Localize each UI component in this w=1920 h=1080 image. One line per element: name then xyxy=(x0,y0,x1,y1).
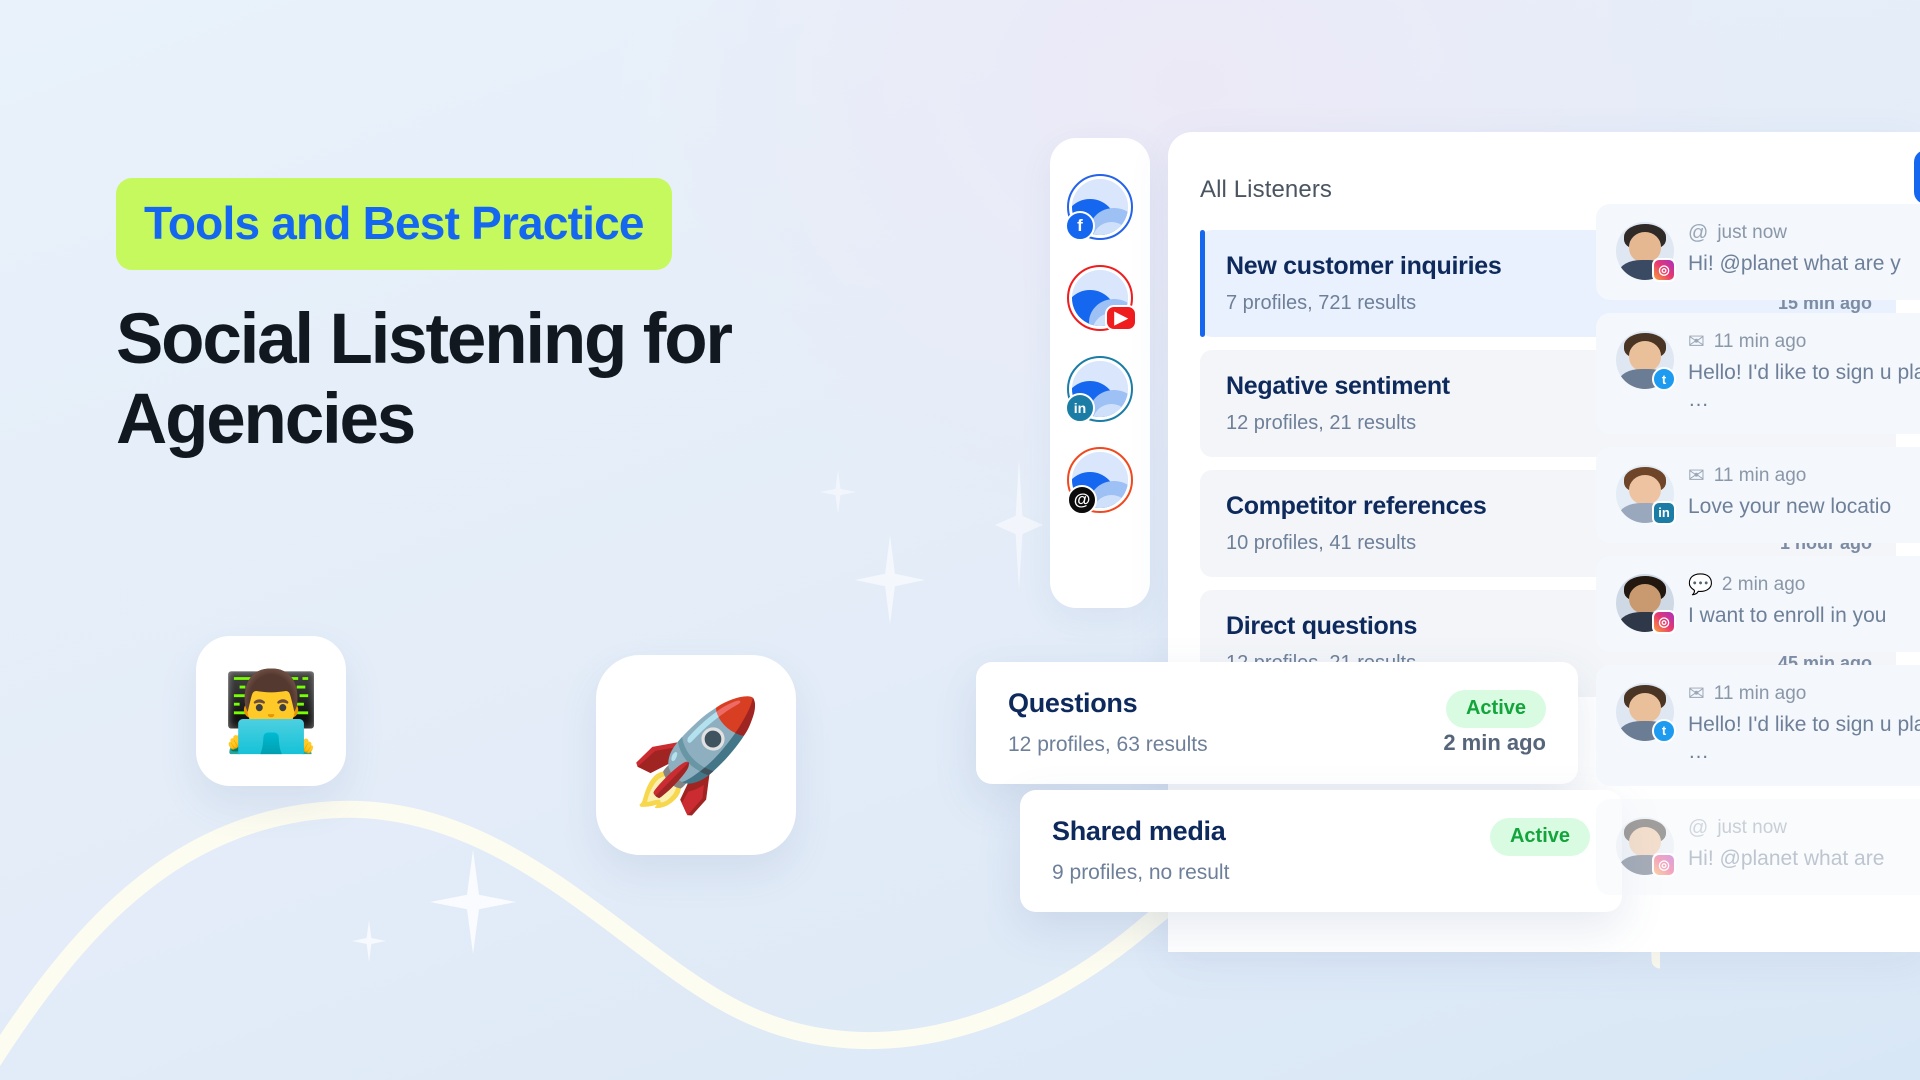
mention-timestamp: 2 min ago xyxy=(1722,574,1805,596)
mention-card[interactable]: t ✉ 11 min ago Hello! I'd like to sign u… xyxy=(1596,313,1920,434)
profile-avatar-threads[interactable]: @ xyxy=(1067,447,1133,513)
emoji-tile-rocket: 🚀 xyxy=(596,655,796,855)
mention-text: Hello! I'd like to sign u plan … xyxy=(1688,360,1920,414)
sparkle-icon xyxy=(855,535,925,625)
mention-text: Love your new locatio xyxy=(1688,494,1920,521)
comment-icon: 💬 xyxy=(1688,575,1713,595)
floating-card-shared-media[interactable]: Shared media 9 profiles, no result Activ… xyxy=(1020,790,1622,912)
mention-card[interactable]: ◎ @ just now Hi! @planet what are xyxy=(1596,799,1920,895)
mention-text: I want to enroll in you xyxy=(1688,603,1920,630)
mention-timestamp: 11 min ago xyxy=(1714,465,1807,487)
instagram-icon: ◎ xyxy=(1652,853,1676,877)
status-badge: Active xyxy=(1446,690,1546,728)
twitter-icon: t xyxy=(1652,367,1676,391)
rocket-emoji: 🚀 xyxy=(629,701,763,809)
twitter-icon: t xyxy=(1652,719,1676,743)
mention-card[interactable]: t ✉ 11 min ago Hello! I'd like to sign u… xyxy=(1596,665,1920,786)
avatar: ◎ xyxy=(1616,222,1674,280)
mention-card[interactable]: ◎ 💬 2 min ago I want to enroll in you xyxy=(1596,556,1920,652)
avatar: ◎ xyxy=(1616,574,1674,632)
facebook-icon: f xyxy=(1065,211,1095,241)
mention-timestamp: just now xyxy=(1717,817,1787,839)
emoji-tile-person-on-laptop: 👨‍💻 xyxy=(196,636,346,786)
profiles-rail: f ▶ in @ xyxy=(1050,138,1150,608)
page-title: Social Listening for Agencies xyxy=(116,300,876,459)
listener-meta: 9 profiles, no result xyxy=(1052,861,1590,885)
instagram-icon: ◎ xyxy=(1652,610,1676,634)
status-badge: Active xyxy=(1490,818,1590,856)
mention-text: Hi! @planet what are xyxy=(1688,846,1920,873)
at-icon: @ xyxy=(1688,818,1708,838)
profile-avatar-facebook[interactable]: f xyxy=(1067,174,1133,240)
person-on-laptop-emoji: 👨‍💻 xyxy=(222,672,319,750)
mention-text: Hello! I'd like to sign u plan … xyxy=(1688,712,1920,766)
avatar: ◎ xyxy=(1616,817,1674,875)
avatar: in xyxy=(1616,465,1674,523)
mention-card[interactable]: in ✉ 11 min ago Love your new locatio xyxy=(1596,447,1920,543)
mention-text: Hi! @planet what are y xyxy=(1688,251,1920,278)
avatar: t xyxy=(1616,331,1674,389)
linkedin-icon: in xyxy=(1652,501,1676,525)
linkedin-icon: in xyxy=(1065,393,1095,423)
mentions-feed: ◎ @ just now Hi! @planet what are y t ✉ xyxy=(1596,132,1920,952)
eyebrow-badge: Tools and Best Practice xyxy=(116,178,672,270)
mention-timestamp: 11 min ago xyxy=(1714,683,1807,705)
feed-header xyxy=(1596,132,1920,204)
mention-timestamp: just now xyxy=(1717,222,1787,244)
sparkle-icon xyxy=(352,920,386,962)
instagram-icon: ◎ xyxy=(1652,258,1676,282)
at-icon: @ xyxy=(1688,223,1708,243)
sparkle-icon xyxy=(820,470,856,514)
sparkle-icon xyxy=(995,460,1043,590)
envelope-icon: ✉ xyxy=(1688,332,1705,352)
floating-card-questions[interactable]: Questions 12 profiles, 63 results Active… xyxy=(976,662,1578,784)
envelope-icon: ✉ xyxy=(1688,466,1705,486)
listener-timestamp: 2 min ago xyxy=(1443,730,1546,756)
threads-icon: @ xyxy=(1067,485,1097,515)
mention-card[interactable]: ◎ @ just now Hi! @planet what are y xyxy=(1596,204,1920,300)
avatar: t xyxy=(1616,683,1674,741)
mention-timestamp: 11 min ago xyxy=(1714,331,1807,353)
profile-avatar-youtube[interactable]: ▶ xyxy=(1067,265,1133,331)
youtube-icon: ▶ xyxy=(1105,305,1137,331)
profile-avatar-linkedin[interactable]: in xyxy=(1067,356,1133,422)
hero-copy: Tools and Best Practice Social Listening… xyxy=(116,178,876,459)
promo-banner: Tools and Best Practice Social Listening… xyxy=(0,0,1920,1080)
sparkle-icon xyxy=(430,850,516,954)
primary-action-button[interactable] xyxy=(1914,150,1920,204)
envelope-icon: ✉ xyxy=(1688,684,1705,704)
